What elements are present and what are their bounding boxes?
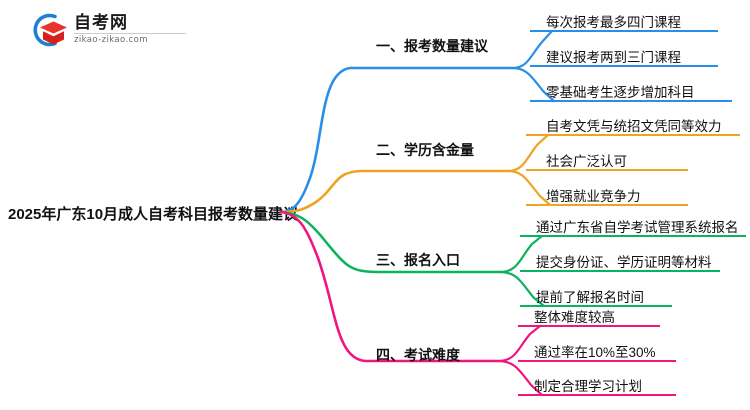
branch-title-3[interactable]: 三、报名入口 (376, 250, 460, 270)
branch-2-main-curve (281, 171, 508, 212)
branch-4-leaf-2-label[interactable]: 通过率在10%至30% (534, 341, 656, 361)
branch-2-leaf-1-label[interactable]: 自考文凭与统招文凭同等效力 (546, 115, 722, 135)
branch-1-leaf-1-label[interactable]: 每次报考最多四门课程 (546, 11, 681, 31)
branch-2-leaf-1-curve (508, 135, 548, 171)
branch-2-leaf-3-label[interactable]: 增强就业竞争力 (546, 185, 641, 205)
branch-4-leaf-3-label[interactable]: 制定合理学习计划 (534, 375, 642, 395)
mindmap-canvas: 自考网 zikao-zikao.com 2025年广东10月成人自考科目报考数量… (0, 0, 750, 410)
branch-3-leaf-3-label[interactable]: 提前了解报名时间 (536, 286, 644, 306)
branch-3-leaf-1-label[interactable]: 通过广东省自学考试管理系统报名 (536, 216, 739, 236)
branch-2-connectors (281, 135, 740, 212)
branch-1-leaf-3-label[interactable]: 零基础考生逐步增加科目 (546, 81, 695, 101)
branch-title-1[interactable]: 一、报考数量建议 (376, 36, 488, 56)
branch-1-leaf-2-label[interactable]: 建议报考两到三门课程 (546, 46, 681, 66)
branch-4-main-curve (281, 212, 498, 361)
branch-4-leaf-1-label[interactable]: 整体难度较高 (534, 306, 615, 326)
branch-2-leaf-3-curve (508, 171, 550, 205)
branch-title-2[interactable]: 二、学历含金量 (376, 140, 474, 160)
branch-title-4[interactable]: 四、考试难度 (376, 345, 460, 365)
branch-2-leaf-2-label[interactable]: 社会广泛认可 (546, 150, 627, 170)
branch-3-leaf-2-label[interactable]: 提交身份证、学历证明等材料 (536, 251, 712, 271)
